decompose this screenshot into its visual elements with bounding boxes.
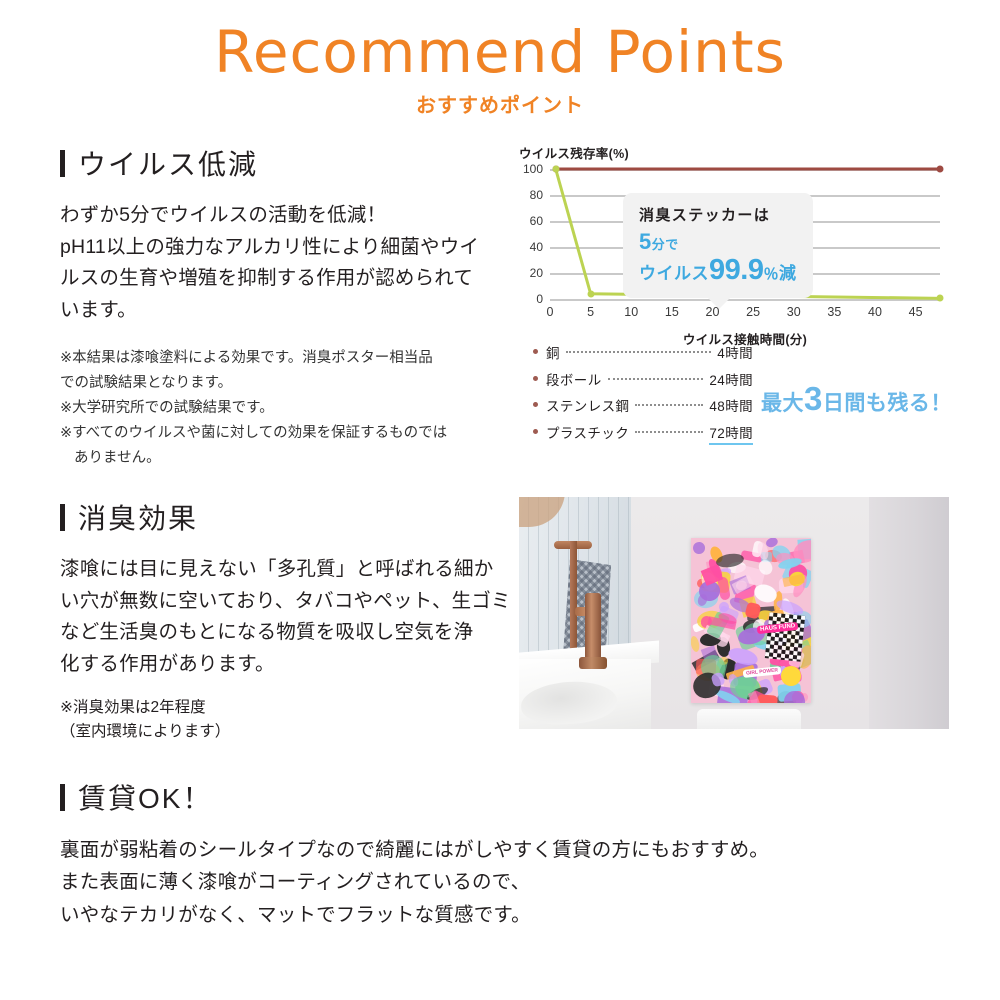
- legend-item-label: 段ボール: [546, 369, 602, 389]
- legend-item-label: 銅: [546, 342, 560, 362]
- chart-x-tick: 25: [746, 305, 760, 319]
- section2-body-line: い穴が無数に空いており、タバコやペット、生ゴミ: [60, 586, 512, 618]
- photo-faucet-base: [579, 657, 607, 669]
- chart-plot-box: 020406080100051015202530354045 ウイルス接触時間(…: [519, 169, 949, 319]
- chart-x-tick: 10: [624, 305, 638, 319]
- section1-note-line: ※本結果は漆喰塗料による効果です。消臭ポスター相当品: [60, 346, 512, 371]
- photo-toilet: [697, 709, 801, 729]
- heading-bar-icon: [60, 504, 65, 531]
- legend-side-prefix: 最大: [761, 392, 804, 415]
- chart-y-tick: 20: [530, 266, 543, 280]
- section3-body: 裏面が弱粘着のシールタイプなので綺麗にはがしやすく賃貸の方にもおすすめ。 また表…: [60, 834, 940, 931]
- callout-line-3: ウイルス99.9％減: [639, 255, 799, 285]
- page-title: Recommend Points: [0, 22, 1000, 83]
- chart-x-tick: 15: [665, 305, 679, 319]
- legend-item-value: 72時間: [709, 422, 753, 445]
- section1-text-column: ウイルス低減 わずか5分でウイルスの活動を低減！ pH11以上の強力なアルカリ性…: [60, 143, 512, 471]
- legend-bullet-icon: [533, 402, 538, 407]
- section2-text-column: 消臭効果 漆喰には目に見えない「多孔質」と呼ばれる細か い穴が無数に空いており、…: [60, 497, 512, 744]
- page-subtitle: おすすめポイント: [0, 89, 1000, 118]
- callout-reduce-word: 減: [779, 264, 797, 283]
- callout-minutes-number: 5: [639, 229, 652, 254]
- chart-y-tick: 40: [530, 240, 543, 254]
- section1-note-line: での試験結果となります。: [60, 371, 512, 396]
- chart-y-tick: 80: [530, 188, 543, 202]
- legend-side-note: 最大3日間も残る！: [761, 380, 952, 418]
- section1-note-line: ※大学研究所での試験結果です。: [60, 396, 512, 421]
- heading-bar-icon: [60, 784, 65, 811]
- chart-x-tick: 35: [827, 305, 841, 319]
- bathroom-photo: HAUS FUNDGIRL POWER: [519, 497, 949, 729]
- section1-body-line: います。: [60, 295, 512, 327]
- photo-faucet: [585, 593, 601, 665]
- section3-body-line: また表面に薄く漆喰がコーティングされているので、: [60, 866, 940, 898]
- chart-x-tick: 30: [787, 305, 801, 319]
- callout-minutes-unit: 分: [652, 237, 666, 252]
- chart-y-tick: 100: [523, 162, 543, 176]
- chart-legend-row: 銅4時間段ボール24時間ステンレス鋼48時間プラスチック72時間 最大3日間も残…: [519, 342, 949, 434]
- section1-note-line: ※すべてのウイルスや菌に対しての効果を保証するものでは: [60, 421, 512, 446]
- chart-data-point: [937, 166, 944, 173]
- legend-item-value: 24時間: [709, 369, 753, 389]
- callout-virus-word: ウイルス: [639, 264, 709, 283]
- virus-survival-chart: ウイルス残存率(%) 02040608010005101520253035404…: [519, 143, 949, 434]
- legend-leader-dots: [608, 378, 704, 380]
- section2-notes: ※消臭効果は2年程度 （室内環境によります）: [60, 696, 512, 744]
- section3-heading: 賃貸OK！: [60, 777, 940, 817]
- section1-note-line: ありません。: [60, 446, 512, 471]
- legend-item: 段ボール24時間: [533, 369, 753, 389]
- legend-item-value: 48時間: [709, 395, 753, 415]
- chart-data-point: [937, 295, 944, 302]
- section1-chart-column: ウイルス残存率(%) 02040608010005101520253035404…: [519, 143, 949, 434]
- legend-bullet-icon: [533, 429, 538, 434]
- page-header: Recommend Points おすすめポイント: [0, 0, 1000, 118]
- photo-far-wall: [869, 497, 949, 729]
- chart-gridline: 0: [550, 299, 940, 301]
- poster-checker-sticker: [765, 612, 806, 662]
- photo-rail-post: [570, 541, 577, 657]
- chart-x-tick: 45: [909, 305, 923, 319]
- section2-photo-column: HAUS FUNDGIRL POWER: [519, 497, 949, 729]
- poster-smiley-icon: [781, 666, 801, 686]
- chart-data-point: [587, 290, 594, 297]
- legend-item-label: ステンレス鋼: [546, 395, 629, 415]
- section3-body-line: 裏面が弱粘着のシールタイプなので綺麗にはがしやすく賃貸の方にもおすすめ。: [60, 834, 940, 866]
- chart-y-tick: 0: [536, 292, 543, 306]
- section2-heading-label: 消臭効果: [78, 497, 198, 537]
- callout-line-2: 5分で: [639, 229, 799, 255]
- legend-leader-dots: [635, 404, 703, 406]
- poster-sticker: [692, 541, 705, 555]
- chart-x-tick: 40: [868, 305, 882, 319]
- callout-percent-number: 99.9: [709, 254, 763, 286]
- callout-line-1: 消臭ステッカーは: [639, 204, 799, 225]
- legend-item: 銅4時間: [533, 342, 753, 362]
- section1-body-line: わずか5分でウイルスの活動を低減！: [60, 200, 512, 232]
- section2-note-line: ※消臭効果は2年程度: [60, 696, 512, 720]
- chart-x-tick: 0: [547, 305, 554, 319]
- legend-bullet-icon: [533, 349, 538, 354]
- section1-body: わずか5分でウイルスの活動を低減！ pH11以上の強力なアルカリ性により細菌やウ…: [60, 200, 512, 326]
- section2-body-line: など生活臭のもとになる物質を吸収し空気を浄: [60, 617, 512, 649]
- chart-y-axis-label: ウイルス残存率(%): [519, 143, 949, 162]
- surface-survival-legend: 銅4時間段ボール24時間ステンレス鋼48時間プラスチック72時間: [533, 342, 753, 451]
- section1-heading: ウイルス低減: [60, 143, 512, 183]
- section1-notes: ※本結果は漆喰塗料による効果です。消臭ポスター相当品 での試験結果となります。 …: [60, 346, 512, 471]
- section2-body-line: 化する作用があります。: [60, 649, 512, 681]
- legend-item-value: 4時間: [717, 342, 753, 362]
- legend-item-label: プラスチック: [546, 422, 629, 442]
- legend-bullet-icon: [533, 376, 538, 381]
- legend-side-number: 3: [804, 380, 823, 417]
- section2-body-line: 漆喰には目に見えない「多孔質」と呼ばれる細か: [60, 554, 512, 586]
- section2-note-line: （室内環境によります）: [60, 720, 512, 744]
- section3-heading-label: 賃貸OK！: [78, 777, 212, 817]
- legend-item: ステンレス鋼48時間: [533, 395, 753, 415]
- section3-body-line: いやなテカリがなく、マットでフラットな質感です。: [60, 899, 940, 931]
- chart-y-tick: 60: [530, 214, 543, 228]
- section2-heading: 消臭効果: [60, 497, 512, 537]
- section3-text-column: 賃貸OK！ 裏面が弱粘着のシールタイプなので綺麗にはがしやすく賃貸の方にもおすす…: [60, 777, 940, 931]
- legend-item: プラスチック72時間: [533, 422, 753, 445]
- section1-body-line: pH11以上の強力なアルカリ性により細菌やウイ: [60, 232, 512, 264]
- legend-side-suffix: 日間も残る！: [823, 392, 952, 415]
- legend-leader-dots: [635, 431, 703, 433]
- chart-x-tick: 5: [587, 305, 594, 319]
- section2-body: 漆喰には目に見えない「多孔質」と呼ばれる細か い穴が無数に空いており、タバコやペ…: [60, 554, 512, 680]
- chart-data-point: [552, 166, 559, 173]
- section1-heading-label: ウイルス低減: [78, 143, 258, 183]
- legend-leader-dots: [566, 351, 711, 353]
- callout-minutes-tail: で: [665, 237, 679, 252]
- photo-sticker-poster: HAUS FUNDGIRL POWER: [691, 538, 811, 703]
- callout-percent-sign: ％: [763, 266, 779, 283]
- section1-body-line: ルスの生育や増殖を抑制する作用が認められて: [60, 263, 512, 295]
- heading-bar-icon: [60, 150, 65, 177]
- chart-callout: 消臭ステッカーは 5分で ウイルス99.9％減: [623, 193, 813, 298]
